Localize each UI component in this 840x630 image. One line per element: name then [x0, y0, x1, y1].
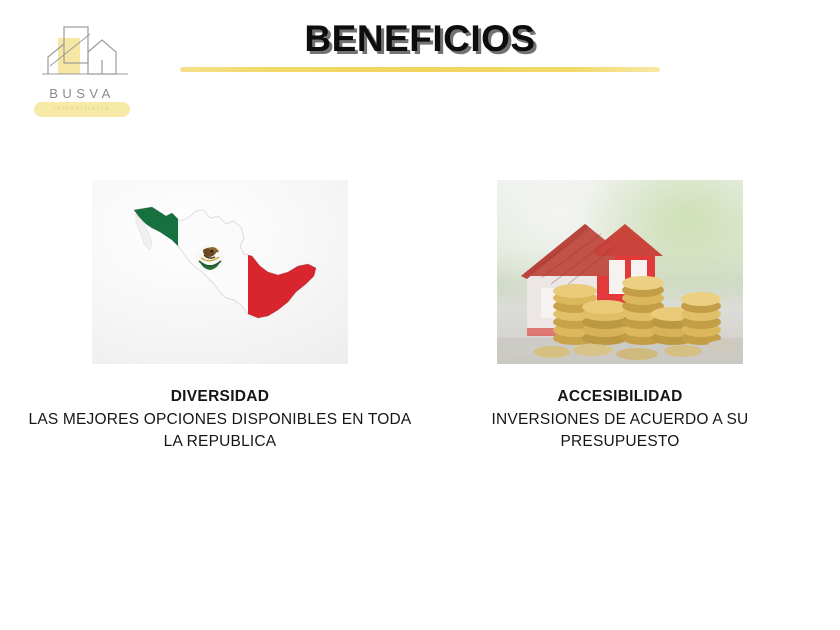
logo-tagline: Inmobiliaria	[34, 103, 130, 116]
page-title: BENEFICIOS	[180, 18, 660, 60]
benefit-description: INVERSIONES DE ACUERDO A SU PRESUPUESTO	[455, 409, 785, 453]
building-outline-icon	[28, 24, 136, 90]
benefit-caption: ACCESIBILIDAD INVERSIONES DE ACUERDO A S…	[455, 386, 785, 453]
logo-wordmark: BUSVA	[28, 86, 136, 101]
house-coins-artwork	[497, 180, 743, 364]
benefit-heading: DIVERSIDAD	[18, 386, 422, 408]
title-underline-rule	[180, 67, 660, 72]
eagle-emblem-icon	[195, 245, 225, 271]
mexico-map-artwork	[92, 180, 348, 364]
benefit-card-accesibilidad: ACCESIBILIDAD INVERSIONES DE ACUERDO A S…	[455, 180, 785, 453]
brand-logo: BUSVA Inmobiliaria	[28, 24, 136, 120]
benefit-card-diversidad: DIVERSIDAD LAS MEJORES OPCIONES DISPONIB…	[18, 180, 422, 453]
benefit-heading: ACCESIBILIDAD	[455, 386, 785, 408]
benefit-caption: DIVERSIDAD LAS MEJORES OPCIONES DISPONIB…	[18, 386, 422, 453]
benefit-description: LAS MEJORES OPCIONES DISPONIBLES EN TODA…	[18, 409, 422, 453]
mexico-map-flag-image	[92, 180, 348, 364]
house-coins-image	[497, 180, 743, 364]
